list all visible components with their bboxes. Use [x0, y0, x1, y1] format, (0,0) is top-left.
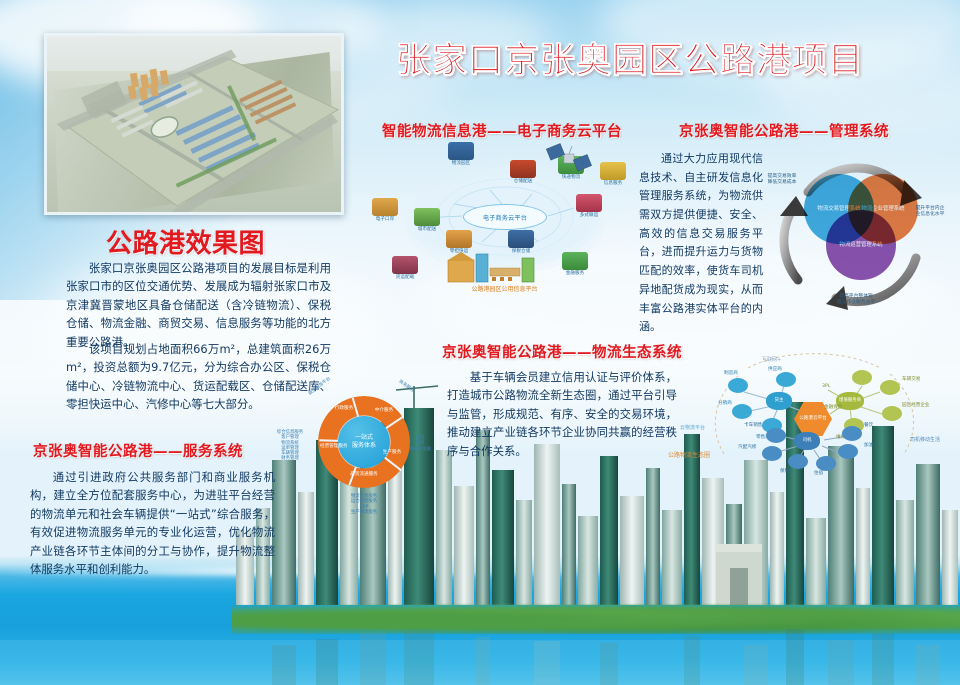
node-icon: [600, 162, 626, 180]
arc-label-internet: 互联网+: [762, 356, 781, 363]
management-body: 通过大力应用现代信息技术、自主研发信息化管理服务系统，为物流供需双方提供便捷、安…: [639, 150, 763, 343]
member-label: 车辆交易: [902, 376, 920, 382]
cluster-node-driver: 司机: [794, 432, 820, 450]
warehouse-icon: [446, 250, 538, 286]
page-title: 张家口京张奥园区公路港项目: [396, 32, 864, 83]
venn-outer-label-bottom: 提高平台整体管 理与作业服务水平: [808, 294, 904, 306]
paragraph: 基于车辆会员建立信用认证与评价体系，打造城市公路物流全新生态圈，通过平台引导与监…: [447, 368, 677, 460]
city-reflection: [228, 628, 960, 685]
arc-label-cloud: 云物流平台: [680, 424, 705, 431]
ecommerce-caption: 公路港园区公用信息平台: [432, 284, 577, 293]
member-node: [882, 406, 902, 421]
member-label: 分销商: [718, 400, 732, 406]
wheel-segment-label: 生产服务: [380, 450, 404, 455]
node-icon: [562, 252, 588, 270]
member-label: 园区经营企业: [902, 402, 930, 408]
ecommerce-node: 物流园区: [448, 142, 474, 166]
wheel-segment-label: 经营管理服务: [320, 444, 346, 449]
member-node: [852, 370, 872, 385]
member-label: 金融保险: [824, 404, 842, 410]
aerial-rendering-photo: [44, 33, 344, 215]
wheel-segment-label: 商贸流通服务: [348, 472, 380, 477]
wheel-outer-label: 商务服务: [388, 373, 423, 401]
node-icon: [448, 142, 474, 160]
member-node: [880, 380, 900, 395]
venn-outer-label-left: 提高交易效率 降低交易成本: [754, 174, 810, 186]
ecommerce-node: 货运配载: [392, 256, 418, 280]
member-node: [732, 404, 752, 419]
node-icon: [414, 208, 440, 226]
member-node: [776, 372, 796, 387]
wheel-outer-label: 商贸 交易 供应链金融: [404, 436, 436, 452]
arc-label-driverlife: 司机移动生活: [910, 436, 940, 443]
section-title-photo: 公路港效果图: [106, 223, 265, 260]
ecommerce-node: 信息服务: [600, 162, 626, 186]
service-system-wheel: 一站式 服务体系 行政服务 中介服务 生产服务 商贸流通服务 经营管理服务 政务…: [292, 382, 424, 522]
poster-canvas: 张家口京张奥园区公路港项目 公路港效果图 智能物流信息港——电子商务云平台 京张…: [0, 0, 960, 685]
arc-label-ecosystem: 公路物流生态圈: [668, 450, 710, 459]
ecosystem-network-diagram: 公路港云平台 货主 制造商 供应商 分销商 零售商 增值服务商 3PL 金融保险…: [666, 358, 960, 476]
paragraph: 张家口京张奥园区公路港项目的发展目标是利用张家口市的区位交通优势、发展成为辐射张…: [66, 259, 331, 351]
member-label: 住宿: [814, 470, 823, 476]
member-label: 汽配汽修: [738, 444, 756, 450]
paragraph: 通过大力应用现代信息技术、自主研发信息化管理服务系统，为物流供需双方提供便捷、安…: [639, 150, 763, 337]
ecommerce-node: 多式联运: [576, 194, 602, 218]
ecommerce-node: 电子口岸: [372, 198, 398, 222]
section-title-service: 京张奥智能公路港——服务系统: [33, 440, 243, 461]
ecommerce-node: 城市配送: [414, 208, 440, 232]
member-node: [816, 456, 836, 471]
ecosystem-body: 基于车辆会员建立信用认证与评价体系，打造城市公路物流全新生态圈，通过平台引导与监…: [447, 368, 677, 467]
section-title-ecommerce: 智能物流信息港——电子商务云平台: [382, 120, 622, 141]
member-label: 制造商: [724, 370, 738, 376]
wheel-core-label: 一站式 服务体系: [338, 416, 390, 468]
member-label: 加油: [864, 442, 873, 448]
member-label: 卡车销售: [744, 422, 762, 428]
member-node: [728, 378, 748, 393]
management-venn-diagram: 物流交易管理系统 物流企业管理系统 物流运营管理系统 提高交易效率 降低交易成本…: [752, 152, 958, 318]
member-label: 餐饮: [864, 422, 873, 428]
member-node: [766, 428, 786, 443]
venn-circle-operations: 物流运营管理系统: [826, 210, 896, 280]
venn-outer-label-right: 提升平台内企 业信息化水平: [902, 206, 958, 218]
member-node: [788, 454, 808, 469]
wheel-outer-label: 综合信息服务 客户管理 物流系统 运单管理 车辆管理 财务管理: [268, 430, 312, 462]
node-icon: [392, 256, 418, 274]
section-title-ecosystem: 京张奥智能公路港——物流生态系统: [442, 341, 682, 362]
satellite-icon: [546, 142, 592, 176]
member-node: [842, 426, 862, 441]
paragraph: 通过引进政府公共服务部门和商业服务机构，建立全方位配套服务中心，为进驻平台经营的…: [30, 468, 275, 579]
node-icon: [508, 230, 534, 248]
cluster-node-shipper: 货主: [766, 392, 792, 410]
cloud-core-label: 电子商务云平台: [463, 204, 547, 230]
wheel-segment-label: 行政服务: [332, 406, 356, 411]
node-icon: [510, 160, 536, 178]
wheel-outer-label: 物流交易服务 运力管理服务 ERP 生产管理服务: [334, 494, 394, 515]
member-label: 保险: [780, 468, 789, 474]
node-icon: [576, 194, 602, 212]
node-icon: [372, 198, 398, 216]
member-node: [838, 444, 858, 459]
node-icon: [446, 230, 472, 248]
member-label: 供应商: [768, 366, 782, 372]
section-title-management: 京张奥智能公路港——管理系统: [679, 120, 889, 141]
ecommerce-node: 仓储配送: [510, 160, 536, 184]
member-label: 3PL: [822, 384, 830, 389]
ecommerce-node: 金融服务: [562, 252, 588, 276]
member-node: [762, 446, 782, 461]
ecommerce-cloud-diagram: 电子商务云平台 物流园区 仓储配送 快递物流 信息服务 电子口岸 城市配送 多式…: [362, 146, 642, 304]
wheel-segment-label: 中介服务: [372, 408, 396, 413]
service-body: 通过引进政府公共服务部门和商业服务机构，建立全方位配套服务中心，为进驻平台经营的…: [30, 468, 275, 585]
